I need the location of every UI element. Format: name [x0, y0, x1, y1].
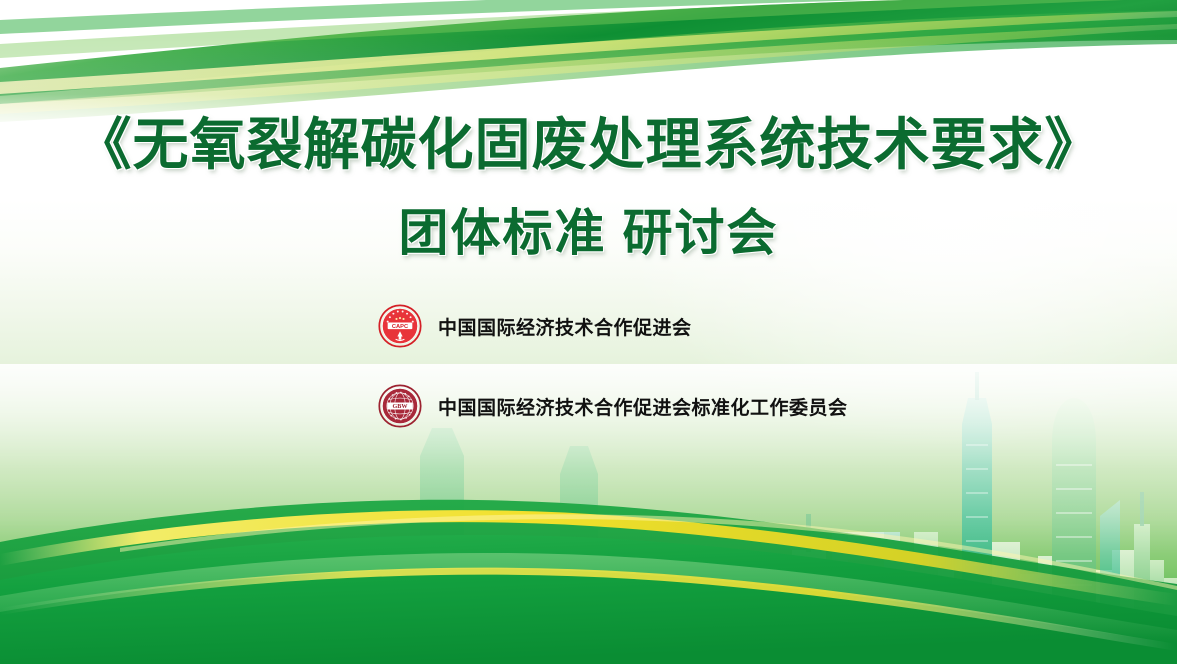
capc-seal-icon: CAPC [378, 304, 422, 348]
organization-name: 中国国际经济技术合作促进会标准化工作委员会 [438, 393, 848, 420]
organization-name: 中国国际经济技术合作促进会 [438, 313, 692, 340]
gbw-seal-icon: GBW [378, 384, 422, 428]
list-item: GBW 中国国际经济技术合作促进会标准化工作委员会 [378, 383, 848, 429]
list-item: CAPC 中国国际经济技术合作促进会 [378, 303, 848, 349]
gbw-seal-text: GBW [392, 404, 408, 410]
slide-content: 《无氧裂解碳化固废处理系统技术要求》 团体标准 研讨会 [0, 0, 1177, 664]
page-subtitle: 团体标准 研讨会 [0, 203, 1177, 263]
organization-list: CAPC 中国国际经济技术合作促进会 [378, 303, 848, 463]
title-slide: 《无氧裂解碳化固废处理系统技术要求》 团体标准 研讨会 [0, 0, 1177, 664]
page-title: 《无氧裂解碳化固废处理系统技术要求》 [0, 113, 1177, 177]
capc-seal-text: CAPC [392, 324, 408, 330]
